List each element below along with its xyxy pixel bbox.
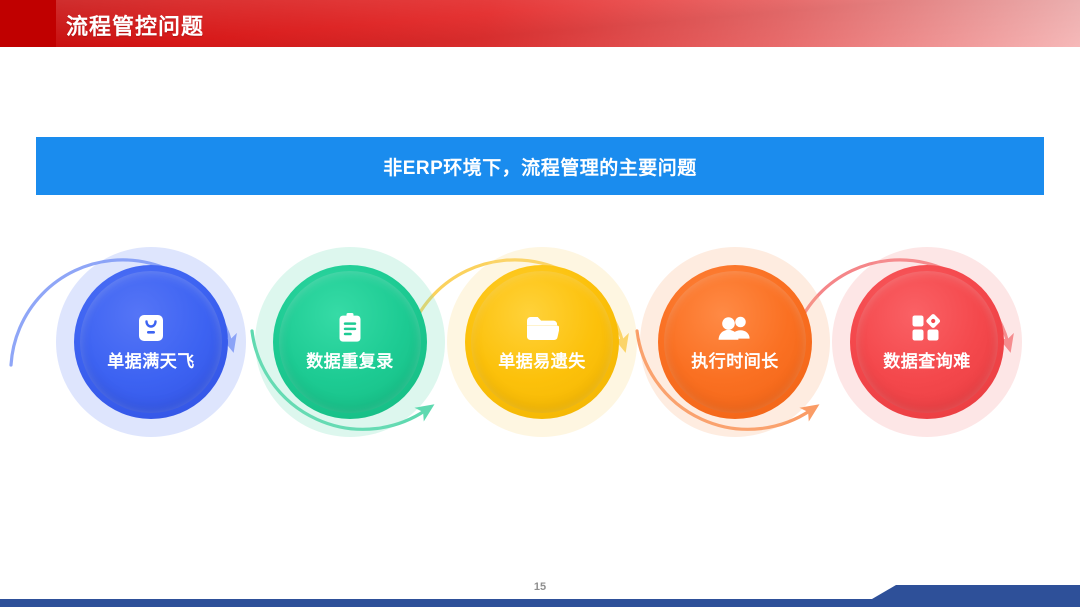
page-title: 流程管控问题	[66, 9, 204, 41]
node-disc[interactable]: 执行时间长	[658, 265, 812, 419]
node-disc[interactable]: 单据易遗失	[465, 265, 619, 419]
node-label: 单据易遗失	[490, 351, 594, 374]
flow-node-shu-ju-cha-xun-nan[interactable]: 数据查询难	[832, 247, 1022, 437]
header-accent-block	[0, 0, 56, 47]
users-icon	[718, 311, 752, 345]
grid-diamond-icon	[910, 311, 944, 345]
section-banner-text: 非ERP环境下，流程管理的主要问题	[383, 153, 697, 180]
node-label: 单据满天飞	[99, 351, 203, 374]
process-flow-diagram: 单据满天飞 数据重复录	[0, 235, 1080, 450]
clipboard-icon	[333, 311, 367, 345]
node-label: 执行时间长	[683, 351, 787, 374]
node-label: 数据重复录	[298, 351, 402, 374]
flow-node-dan-ju-man-tian-fei[interactable]: 单据满天飞	[56, 247, 246, 437]
section-banner: 非ERP环境下，流程管理的主要问题	[36, 137, 1044, 195]
header-sheen-overlay	[56, 0, 1080, 47]
folder-icon	[525, 311, 559, 345]
flow-node-zhi-xing-shi-jian-chang[interactable]: 执行时间长	[640, 247, 830, 437]
footer-shape	[0, 575, 1080, 607]
flow-node-dan-ju-yi-yi-shi[interactable]: 单据易遗失	[447, 247, 637, 437]
node-label: 数据查询难	[875, 351, 979, 374]
node-disc[interactable]: 数据查询难	[850, 265, 1004, 419]
node-disc[interactable]: 数据重复录	[273, 265, 427, 419]
flow-node-shu-ju-chong-fu-lu[interactable]: 数据重复录	[255, 247, 445, 437]
shopping-bag-icon	[134, 311, 168, 345]
slide-footer	[0, 575, 1080, 607]
node-disc[interactable]: 单据满天飞	[74, 265, 228, 419]
slide-header: 流程管控问题	[0, 0, 1080, 47]
